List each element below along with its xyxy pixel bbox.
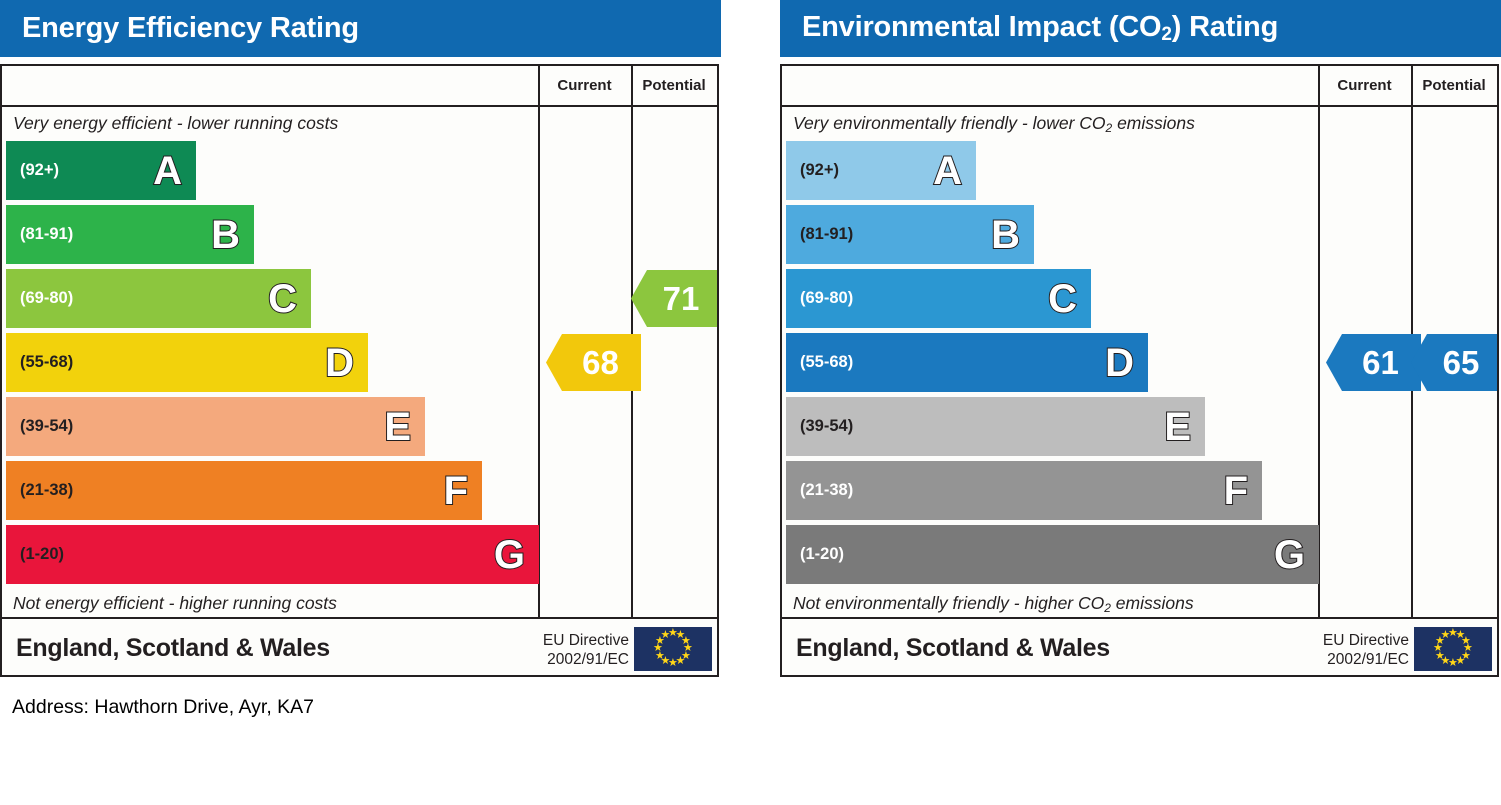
eu-flag-icon: ★★★★★★★★★★★★ bbox=[1414, 627, 1492, 671]
chart-frame: CurrentPotentialVery environmentally fri… bbox=[780, 64, 1499, 677]
eu-directive-line1: EU Directive bbox=[543, 631, 629, 650]
band-range-label: (92+) bbox=[20, 161, 59, 180]
band-letter-A: A bbox=[153, 151, 182, 191]
rating-band-A: (92+)A bbox=[6, 141, 196, 200]
column-header-potential: Potential bbox=[631, 66, 717, 105]
eu-directive-line1: EU Directive bbox=[1323, 631, 1409, 650]
eu-flag-icon: ★★★★★★★★★★★★ bbox=[634, 627, 712, 671]
column-header-current: Current bbox=[1318, 66, 1411, 105]
band-range-label: (39-54) bbox=[20, 417, 73, 436]
eu-star-icon: ★ bbox=[661, 630, 671, 641]
band-range-label: (39-54) bbox=[800, 417, 853, 436]
chart-title-bar: Environmental Impact (CO2) Rating bbox=[780, 0, 1501, 57]
rating-band-C: (69-80)C bbox=[6, 269, 311, 328]
band-letter-G: G bbox=[494, 535, 525, 575]
table-divider bbox=[2, 105, 717, 107]
eu-directive-label: EU Directive2002/91/EC bbox=[543, 631, 629, 670]
column-header-potential: Potential bbox=[1411, 66, 1497, 105]
band-letter-B: B bbox=[211, 215, 240, 255]
potential-rating-marker: 65 bbox=[1411, 334, 1497, 391]
rating-bands: (92+)A(81-91)B(69-80)C(55-68)D(39-54)E(2… bbox=[786, 141, 1316, 589]
rating-band-F: (21-38)F bbox=[6, 461, 482, 520]
band-range-label: (21-38) bbox=[800, 481, 853, 500]
band-letter-D: D bbox=[1105, 343, 1134, 383]
caption-bottom: Not energy efficient - higher running co… bbox=[13, 593, 337, 614]
current-rating-marker: 68 bbox=[546, 334, 641, 391]
band-range-label: (81-91) bbox=[800, 225, 853, 244]
band-letter-C: C bbox=[268, 279, 297, 319]
epc-chart-environmental-impact: Environmental Impact (CO2) RatingCurrent… bbox=[780, 0, 1501, 678]
rating-band-E: (39-54)E bbox=[6, 397, 425, 456]
band-range-label: (92+) bbox=[800, 161, 839, 180]
rating-band-G: (1-20)G bbox=[786, 525, 1319, 584]
rating-band-D: (55-68)D bbox=[786, 333, 1148, 392]
band-letter-F: F bbox=[1224, 471, 1248, 511]
rating-band-B: (81-91)B bbox=[6, 205, 254, 264]
potential-rating-marker: 71 bbox=[631, 270, 717, 327]
column-header-current: Current bbox=[538, 66, 631, 105]
region-label: England, Scotland & Wales bbox=[16, 634, 330, 663]
property-address: Address: Hawthorn Drive, Ayr, KA7 bbox=[12, 696, 314, 719]
band-range-label: (55-68) bbox=[20, 353, 73, 372]
chart-footer: England, Scotland & WalesEU Directive200… bbox=[2, 619, 717, 677]
rating-band-A: (92+)A bbox=[786, 141, 976, 200]
eu-directive-line2: 2002/91/EC bbox=[1323, 650, 1409, 669]
caption-top: Very environmentally friendly - lower CO… bbox=[793, 113, 1195, 135]
epc-chart-energy-efficiency: Energy Efficiency RatingCurrentPotential… bbox=[0, 0, 721, 678]
band-range-label: (55-68) bbox=[800, 353, 853, 372]
chart-frame: CurrentPotentialVery energy efficient - … bbox=[0, 64, 719, 677]
chart-title: Environmental Impact (CO2) Rating bbox=[802, 11, 1278, 46]
rating-band-C: (69-80)C bbox=[786, 269, 1091, 328]
band-letter-G: G bbox=[1274, 535, 1305, 575]
current-rating-marker: 61 bbox=[1326, 334, 1421, 391]
band-letter-E: E bbox=[384, 407, 411, 447]
band-range-label: (69-80) bbox=[20, 289, 73, 308]
band-letter-E: E bbox=[1164, 407, 1191, 447]
rating-band-B: (81-91)B bbox=[786, 205, 1034, 264]
band-letter-D: D bbox=[325, 343, 354, 383]
rating-band-F: (21-38)F bbox=[786, 461, 1262, 520]
band-letter-A: A bbox=[933, 151, 962, 191]
chart-title: Energy Efficiency Rating bbox=[22, 12, 359, 45]
chart-footer: England, Scotland & WalesEU Directive200… bbox=[782, 619, 1497, 677]
rating-band-G: (1-20)G bbox=[6, 525, 539, 584]
band-range-label: (69-80) bbox=[800, 289, 853, 308]
eu-star-icon: ★ bbox=[1441, 630, 1451, 641]
band-letter-F: F bbox=[444, 471, 468, 511]
rating-band-E: (39-54)E bbox=[786, 397, 1205, 456]
caption-bottom: Not environmentally friendly - higher CO… bbox=[793, 593, 1194, 615]
band-range-label: (21-38) bbox=[20, 481, 73, 500]
region-label: England, Scotland & Wales bbox=[796, 634, 1110, 663]
eu-directive-line2: 2002/91/EC bbox=[543, 650, 629, 669]
band-range-label: (1-20) bbox=[20, 545, 64, 564]
band-letter-B: B bbox=[991, 215, 1020, 255]
table-divider bbox=[782, 105, 1497, 107]
band-range-label: (81-91) bbox=[20, 225, 73, 244]
eu-directive-label: EU Directive2002/91/EC bbox=[1323, 631, 1409, 670]
caption-top: Very energy efficient - lower running co… bbox=[13, 113, 338, 134]
chart-title-bar: Energy Efficiency Rating bbox=[0, 0, 721, 57]
band-range-label: (1-20) bbox=[800, 545, 844, 564]
rating-band-D: (55-68)D bbox=[6, 333, 368, 392]
rating-bands: (92+)A(81-91)B(69-80)C(55-68)D(39-54)E(2… bbox=[6, 141, 536, 589]
band-letter-C: C bbox=[1048, 279, 1077, 319]
